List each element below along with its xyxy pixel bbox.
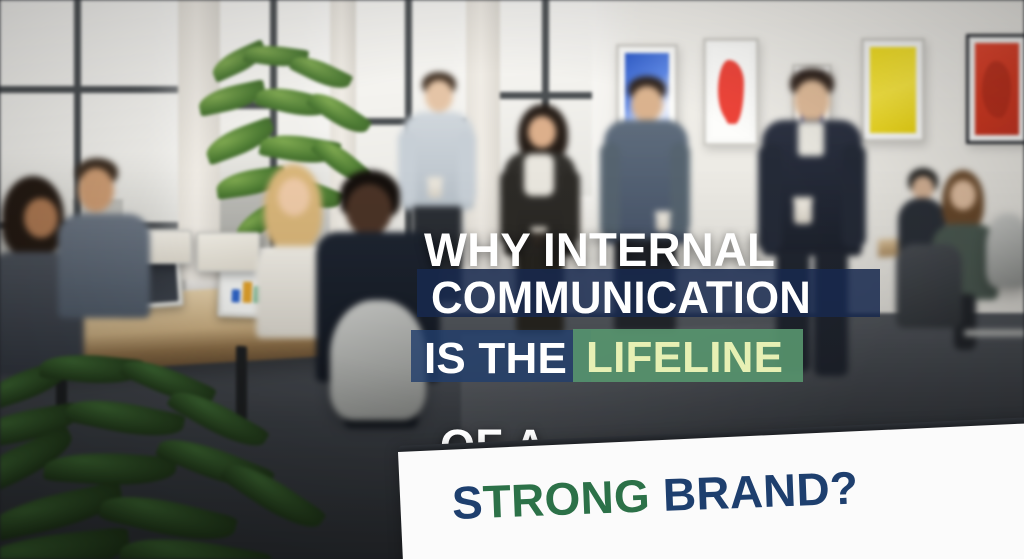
headline-line-1: WHY INTERNAL: [424, 226, 775, 273]
header-graphic: WHY INTERNAL COMMUNICATION IS THE LIFELI…: [0, 0, 1024, 559]
headline-line-2: COMMUNICATION: [431, 275, 811, 320]
headline-line-3a: IS THE: [424, 337, 567, 381]
bottom-seg-brand: BRAND?: [662, 461, 859, 520]
bottom-seg-trong: TRONG: [482, 469, 651, 527]
headline-line-3b-lifeline: LIFELINE: [586, 336, 783, 380]
headline-overlay: WHY INTERNAL COMMUNICATION IS THE LIFELI…: [0, 0, 1024, 559]
bottom-seg-s: S: [451, 476, 484, 529]
